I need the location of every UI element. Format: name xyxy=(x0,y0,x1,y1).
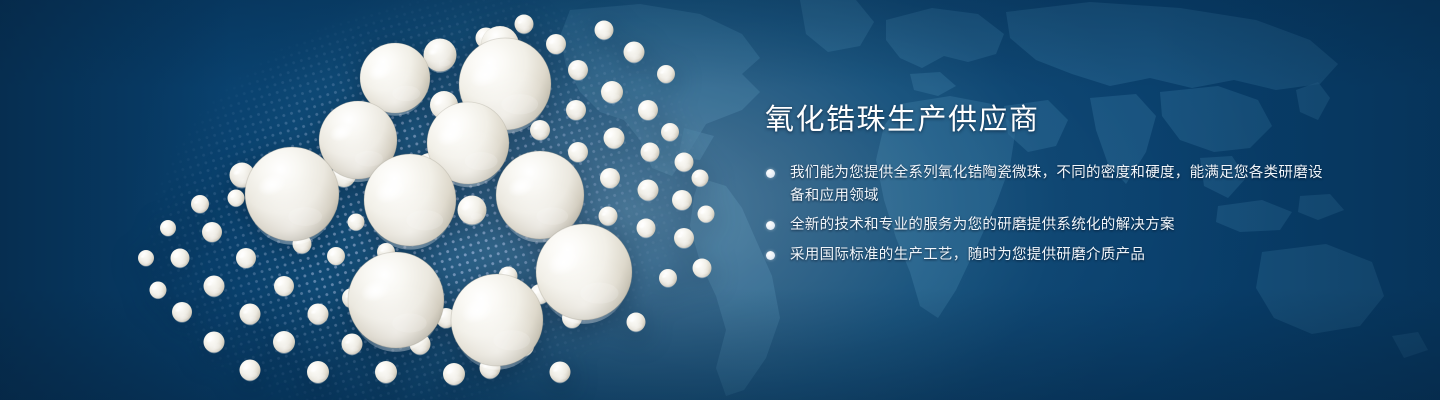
zirconia-beads-photo xyxy=(0,0,780,400)
page-title: 氧化锆珠生产供应商 xyxy=(765,100,1323,140)
list-item-label: 我们能为您提供全系列氧化锆陶瓷微珠，不同的密度和硬度，能满足您各类研磨设备和应用… xyxy=(790,162,1323,207)
bullet-dot-icon xyxy=(766,169,775,178)
list-item: 我们能为您提供全系列氧化锆陶瓷微珠，不同的密度和硬度，能满足您各类研磨设备和应用… xyxy=(763,162,1323,207)
list-item-label: 采用国际标准的生产工艺，随时为您提供研磨介质产品 xyxy=(790,244,1323,267)
feature-bullet-list: 我们能为您提供全系列氧化锆陶瓷微珠，不同的密度和硬度，能满足您各类研磨设备和应用… xyxy=(763,162,1323,266)
list-item-label: 全新的技术和专业的服务为您的研磨提供系统化的解决方案 xyxy=(790,214,1323,237)
list-item: 采用国际标准的生产工艺，随时为您提供研磨介质产品 xyxy=(763,244,1323,267)
bullet-dot-icon xyxy=(766,251,775,260)
list-item: 全新的技术和专业的服务为您的研磨提供系统化的解决方案 xyxy=(763,214,1323,237)
banner-copy-block: 氧化锆珠生产供应商 我们能为您提供全系列氧化锆陶瓷微珠，不同的密度和硬度，能满足… xyxy=(763,100,1323,266)
bullet-dot-icon xyxy=(766,221,775,230)
hero-banner: 氧化锆珠生产供应商 我们能为您提供全系列氧化锆陶瓷微珠，不同的密度和硬度，能满足… xyxy=(0,0,1440,400)
